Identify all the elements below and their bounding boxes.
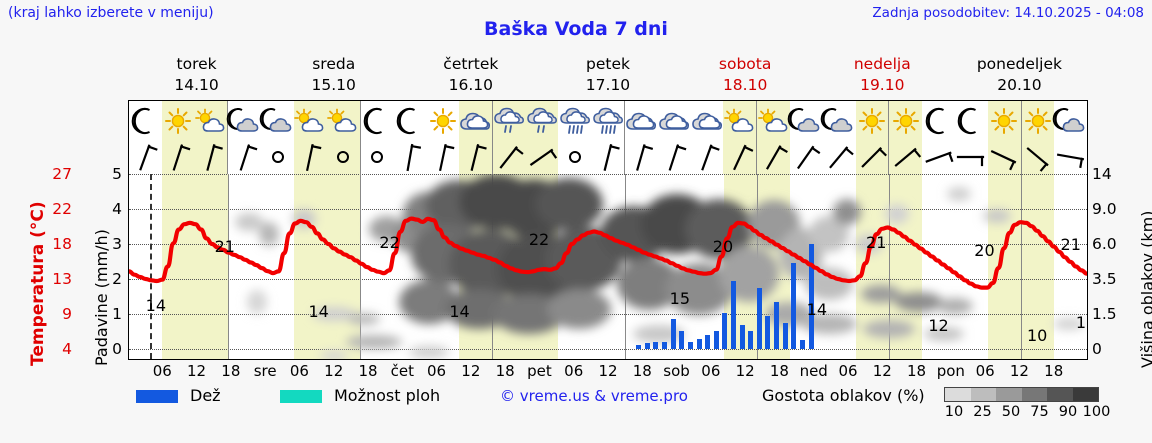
weather-icon-slot-15 bbox=[624, 101, 658, 141]
cloud-ramp-tick: 50 bbox=[1002, 404, 1020, 420]
cloud-height-tick: 9.0 bbox=[1092, 200, 1122, 218]
cloud-ramp-tick: 75 bbox=[1030, 404, 1048, 420]
temperature-point-label: 10 bbox=[1027, 326, 1047, 345]
page-title: Baška Voda 7 dni bbox=[0, 18, 1152, 40]
wind-barb-slot-23 bbox=[888, 141, 922, 174]
showers-legend-label: Možnost ploh bbox=[334, 386, 440, 405]
moon-icon bbox=[959, 108, 983, 134]
weather-icon-slot-28 bbox=[1054, 101, 1087, 141]
weather-icon-slot-19 bbox=[756, 101, 790, 141]
weather-icon-slot-14 bbox=[591, 101, 624, 141]
weather-icon-slot-8 bbox=[393, 101, 426, 141]
day-header-row: torek14.10sreda15.10četrtek16.10petek17.… bbox=[128, 54, 1088, 98]
x-tick-label: 18 bbox=[1044, 362, 1063, 380]
wind-barb-slot-14 bbox=[591, 141, 624, 174]
wind-barb-slot-0 bbox=[129, 141, 162, 174]
moon-icon bbox=[398, 108, 422, 134]
wind-barb-icon bbox=[367, 143, 387, 171]
sun-icon bbox=[430, 108, 456, 134]
cloud-icon bbox=[658, 110, 690, 132]
wind-barb-slot-7 bbox=[360, 141, 394, 174]
weather-icon-band bbox=[129, 101, 1087, 141]
x-tick-label: 12 bbox=[1010, 362, 1029, 380]
wind-barb-slot-27 bbox=[1021, 141, 1055, 174]
cloud-ramp-step-3 bbox=[1022, 388, 1048, 401]
weather-icon-slot-4 bbox=[261, 101, 294, 141]
wind-barb-icon bbox=[761, 143, 787, 172]
weather-icon-slot-27 bbox=[1021, 101, 1055, 141]
cloud-ramp-tick: 100 bbox=[1083, 404, 1111, 420]
temperature-point-label: 21 bbox=[1061, 235, 1081, 254]
day-date: 15.10 bbox=[265, 75, 402, 96]
weather-icon-slot-0 bbox=[129, 101, 162, 141]
cloud-ramp-step-0 bbox=[945, 388, 971, 401]
wind-barb-slot-10 bbox=[459, 141, 492, 174]
wind-barb-icon bbox=[397, 143, 423, 172]
day-header-6: ponedeljek20.10 bbox=[951, 54, 1088, 98]
cloud-icon bbox=[459, 110, 491, 132]
wind-barb-icon bbox=[958, 143, 984, 172]
temperature-axis-title: Temperatura (°C) bbox=[6, 170, 34, 370]
wind-barb-icon bbox=[826, 143, 852, 172]
wind-barb-slot-9 bbox=[426, 141, 459, 174]
temperature-point-label: 14 bbox=[146, 296, 166, 315]
wind-barb-icon bbox=[1058, 143, 1084, 172]
wind-barb-slot-3 bbox=[227, 141, 261, 174]
wind-barb-slot-8 bbox=[393, 141, 426, 174]
rain-light-icon bbox=[493, 106, 525, 136]
wind-barb-band bbox=[129, 141, 1087, 174]
sun-cloud-icon bbox=[293, 109, 327, 133]
cloud-height-tick: 14 bbox=[1092, 165, 1122, 183]
weather-icon-slot-18 bbox=[723, 101, 756, 141]
precipitation-tick: 5 bbox=[96, 165, 122, 183]
x-tick-label: 18 bbox=[496, 362, 515, 380]
x-tick-label: 12 bbox=[461, 362, 480, 380]
day-header-0: torek14.10 bbox=[128, 54, 265, 98]
wind-barb-icon bbox=[430, 143, 456, 172]
weather-icon-slot-10 bbox=[459, 101, 492, 141]
wind-barb-slot-17 bbox=[691, 141, 724, 174]
day-date: 17.10 bbox=[539, 75, 676, 96]
wind-barb-slot-15 bbox=[624, 141, 658, 174]
cloud-ramp-tick: 25 bbox=[973, 404, 991, 420]
temperature-point-label: 22 bbox=[379, 233, 399, 252]
wind-barb-icon bbox=[232, 143, 258, 172]
sun-icon bbox=[165, 108, 191, 134]
rain-light-icon bbox=[526, 106, 558, 136]
day-name: ponedeljek bbox=[951, 54, 1088, 75]
cloud-height-axis-title: Višina oblakov (km) bbox=[1118, 168, 1146, 373]
chart-plot-area[interactable]: 142114221422152014211220102112 bbox=[129, 174, 1087, 359]
wind-barb-icon bbox=[565, 143, 585, 171]
moon-cloud-icon bbox=[822, 109, 856, 133]
wind-barb-slot-24 bbox=[922, 141, 955, 174]
rain-icon bbox=[559, 106, 591, 136]
precipitation-tick: 3 bbox=[96, 235, 122, 253]
cloud-ramp-step-2 bbox=[996, 388, 1022, 401]
weather-icon-slot-16 bbox=[658, 101, 691, 141]
precipitation-tick: 1 bbox=[96, 305, 122, 323]
wind-barb-slot-2 bbox=[195, 141, 228, 174]
wind-barb-icon bbox=[926, 143, 952, 172]
weather-icon-slot-12 bbox=[526, 101, 559, 141]
x-tick-label: 18 bbox=[633, 362, 652, 380]
day-date: 14.10 bbox=[128, 75, 265, 96]
day-name: sobota bbox=[677, 54, 814, 75]
weather-icon-slot-11 bbox=[492, 101, 526, 141]
temperature-tick: 4 bbox=[38, 340, 72, 358]
wind-barb-icon bbox=[132, 143, 158, 172]
wind-barb-slot-18 bbox=[723, 141, 756, 174]
wind-barb-icon bbox=[1025, 143, 1051, 172]
temperature-point-label: 14 bbox=[807, 300, 827, 319]
wind-barb-icon bbox=[793, 143, 819, 172]
day-date: 18.10 bbox=[677, 75, 814, 96]
wind-barb-slot-22 bbox=[856, 141, 889, 174]
wind-barb-slot-19 bbox=[756, 141, 790, 174]
temperature-tick: 27 bbox=[38, 165, 72, 183]
day-header-2: četrtek16.10 bbox=[402, 54, 539, 98]
rain-legend-label: Dež bbox=[190, 386, 221, 405]
day-date: 20.10 bbox=[951, 75, 1088, 96]
weather-icon-slot-17 bbox=[691, 101, 724, 141]
moon-icon bbox=[927, 108, 951, 134]
weather-icon-slot-2 bbox=[195, 101, 228, 141]
cloud-height-tick: 1.5 bbox=[1092, 305, 1122, 323]
weather-icon-slot-9 bbox=[426, 101, 459, 141]
wind-barb-slot-4 bbox=[261, 141, 294, 174]
sun-icon bbox=[859, 108, 885, 134]
x-tick-label: 06 bbox=[290, 362, 309, 380]
moon-cloud-icon bbox=[228, 109, 262, 133]
x-axis-tick-labels: 061218sre061218čet061218pet061218sob0612… bbox=[128, 362, 1088, 382]
x-tick-label: 12 bbox=[324, 362, 343, 380]
cloud-height-tick: 3.5 bbox=[1092, 270, 1122, 288]
rain-legend-swatch bbox=[136, 390, 178, 403]
sun-icon bbox=[991, 108, 1017, 134]
cloud-ramp-step-1 bbox=[971, 388, 997, 401]
temperature-point-label: 12 bbox=[928, 316, 948, 335]
wind-barb-slot-12 bbox=[526, 141, 559, 174]
wind-barb-icon bbox=[198, 143, 224, 172]
x-tick-label: pon bbox=[937, 362, 965, 380]
temperature-tick: 9 bbox=[38, 305, 72, 323]
cloud-ramp-tick: 90 bbox=[1059, 404, 1077, 420]
temperature-point-label: 21 bbox=[866, 233, 886, 252]
cloud-density-ramp-ticks: 1025507590100 bbox=[938, 404, 1108, 422]
wind-barb-slot-16 bbox=[658, 141, 691, 174]
temperature-tick: 18 bbox=[38, 235, 72, 253]
last-update-label: Zadnja posodobitev: 14.10.2025 - 04:08 bbox=[872, 5, 1144, 21]
wind-barb-icon bbox=[496, 143, 522, 172]
weather-icon-slot-21 bbox=[823, 101, 856, 141]
x-tick-label: pet bbox=[527, 362, 552, 380]
x-tick-label: čet bbox=[391, 362, 414, 380]
moon-cloud-icon bbox=[261, 109, 295, 133]
day-name: petek bbox=[539, 54, 676, 75]
x-tick-label: 06 bbox=[153, 362, 172, 380]
x-tick-label: 18 bbox=[770, 362, 789, 380]
temperature-point-label: 20 bbox=[974, 241, 994, 260]
x-tick-label: 06 bbox=[564, 362, 583, 380]
temperature-tick: 22 bbox=[38, 200, 72, 218]
wind-barb-slot-26 bbox=[988, 141, 1021, 174]
wind-barb-slot-5 bbox=[294, 141, 327, 174]
cloud-height-tick: 0 bbox=[1092, 340, 1122, 358]
wind-barb-icon bbox=[333, 143, 353, 171]
weather-icon-slot-13 bbox=[558, 101, 591, 141]
x-tick-label: 18 bbox=[358, 362, 377, 380]
wind-barb-icon bbox=[727, 143, 753, 172]
day-header-5: nedelja19.10 bbox=[814, 54, 951, 98]
wind-barb-slot-13 bbox=[558, 141, 591, 174]
day-date: 16.10 bbox=[402, 75, 539, 96]
cloud-height-axis-title-text: Višina oblakov (km) bbox=[1138, 211, 1152, 368]
wind-barb-icon bbox=[859, 143, 885, 172]
weather-icon-slot-5 bbox=[294, 101, 327, 141]
cloud-density-color-ramp bbox=[944, 387, 1099, 402]
wind-barb-slot-20 bbox=[790, 141, 823, 174]
day-header-3: petek17.10 bbox=[539, 54, 676, 98]
wind-barb-icon bbox=[297, 143, 323, 172]
x-tick-label: 18 bbox=[907, 362, 926, 380]
x-tick-label: 06 bbox=[976, 362, 995, 380]
day-name: sreda bbox=[265, 54, 402, 75]
sun-cloud-icon bbox=[194, 109, 228, 133]
cloud-ramp-step-4 bbox=[1047, 388, 1073, 401]
weather-icon-slot-23 bbox=[888, 101, 922, 141]
wind-barb-slot-28 bbox=[1054, 141, 1087, 174]
copyright-link[interactable]: © vreme.us & vreme.pro bbox=[500, 387, 688, 405]
day-header-4: sobota18.10 bbox=[677, 54, 814, 98]
temperature-point-label: 12 bbox=[1076, 313, 1087, 332]
temperature-point-label: 20 bbox=[713, 237, 733, 256]
day-name: četrtek bbox=[402, 54, 539, 75]
temperature-point-label: 22 bbox=[529, 230, 549, 249]
wind-barb-slot-25 bbox=[955, 141, 988, 174]
day-date: 19.10 bbox=[814, 75, 951, 96]
wind-barb-icon bbox=[268, 143, 288, 171]
x-tick-label: 12 bbox=[736, 362, 755, 380]
x-tick-label: sre bbox=[254, 362, 277, 380]
x-tick-label: 06 bbox=[701, 362, 720, 380]
x-tick-label: 06 bbox=[838, 362, 857, 380]
x-tick-label: sob bbox=[663, 362, 690, 380]
cloud-density-legend-label: Gostota oblakov (%) bbox=[762, 386, 925, 405]
temperature-point-label: 15 bbox=[670, 289, 690, 308]
cloud-icon bbox=[625, 110, 657, 132]
sun-icon bbox=[1025, 108, 1051, 134]
weather-icon-slot-26 bbox=[988, 101, 1021, 141]
wind-barb-icon bbox=[165, 143, 191, 172]
moon-cloud-icon bbox=[789, 109, 823, 133]
weather-icon-slot-7 bbox=[360, 101, 394, 141]
wind-barb-slot-6 bbox=[327, 141, 360, 174]
day-name: torek bbox=[128, 54, 265, 75]
wind-barb-icon bbox=[694, 143, 720, 172]
showers-legend-swatch bbox=[280, 390, 322, 403]
chart-legend: Dež Možnost ploh © vreme.us & vreme.pro … bbox=[128, 386, 1144, 426]
wind-barb-icon bbox=[991, 143, 1017, 172]
weather-icon-slot-6 bbox=[327, 101, 360, 141]
moon-icon bbox=[365, 108, 389, 134]
cloud-icon bbox=[691, 110, 723, 132]
day-name: nedelja bbox=[814, 54, 951, 75]
weather-icon-slot-22 bbox=[856, 101, 889, 141]
sun-cloud-icon bbox=[326, 109, 360, 133]
day-header-1: sreda15.10 bbox=[265, 54, 402, 98]
precipitation-tick: 0 bbox=[96, 340, 122, 358]
weather-icon-slot-3 bbox=[227, 101, 261, 141]
temperature-point-label: 14 bbox=[449, 302, 469, 321]
sun-cloud-icon bbox=[723, 109, 757, 133]
wind-barb-slot-11 bbox=[492, 141, 526, 174]
weather-icon-slot-25 bbox=[955, 101, 988, 141]
wind-barb-icon bbox=[529, 143, 555, 172]
wind-barb-icon bbox=[595, 143, 621, 172]
x-tick-label: 12 bbox=[598, 362, 617, 380]
wind-barb-icon bbox=[893, 143, 919, 172]
cloud-height-tick: 6.0 bbox=[1092, 235, 1122, 253]
weather-icon-slot-1 bbox=[162, 101, 195, 141]
precipitation-tick: 2 bbox=[96, 270, 122, 288]
wind-barb-icon bbox=[462, 143, 488, 172]
wind-barb-slot-21 bbox=[823, 141, 856, 174]
cloud-ramp-tick: 10 bbox=[945, 404, 963, 420]
temperature-point-label: 14 bbox=[308, 302, 328, 321]
x-tick-label: 18 bbox=[221, 362, 240, 380]
temperature-point-label: 21 bbox=[215, 237, 235, 256]
x-tick-label: 12 bbox=[187, 362, 206, 380]
temperature-tick: 13 bbox=[38, 270, 72, 288]
sun-cloud-icon bbox=[757, 109, 791, 133]
x-tick-label: 12 bbox=[873, 362, 892, 380]
moon-icon bbox=[133, 108, 157, 134]
sun-icon bbox=[893, 108, 919, 134]
wind-barb-icon bbox=[628, 143, 654, 172]
weather-icon-slot-24 bbox=[922, 101, 955, 141]
x-tick-label: 06 bbox=[427, 362, 446, 380]
cloud-ramp-step-5 bbox=[1073, 388, 1099, 401]
x-tick-label: ned bbox=[800, 362, 828, 380]
precipitation-tick: 4 bbox=[96, 200, 122, 218]
wind-barb-icon bbox=[661, 143, 687, 172]
rain-icon bbox=[592, 106, 624, 136]
moon-cloud-icon bbox=[1054, 109, 1087, 133]
wind-barb-slot-1 bbox=[162, 141, 195, 174]
weather-icon-slot-20 bbox=[790, 101, 823, 141]
